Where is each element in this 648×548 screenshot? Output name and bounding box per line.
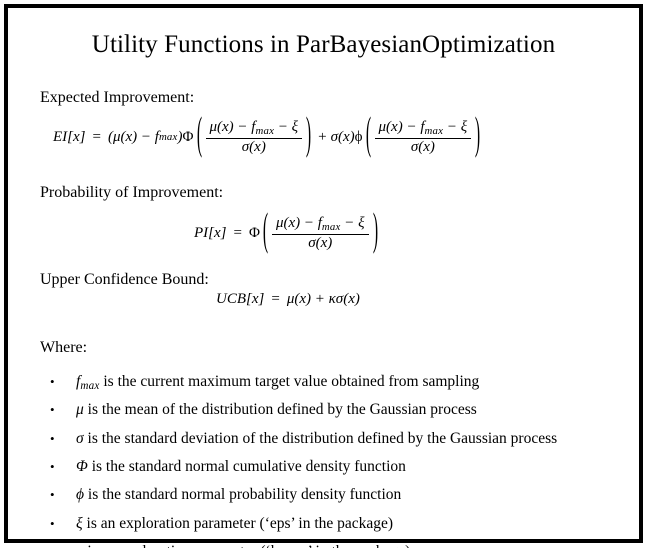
definition-text: is the standard normal probability densi…: [84, 486, 401, 503]
ei-factor-sub: max: [159, 132, 178, 143]
section-label-upper-confidence-bound: Upper Confidence Bound:: [40, 270, 209, 290]
ei-lhs: EI[x]: [53, 130, 86, 145]
section-label-expected-improvement: Expected Improvement:: [40, 88, 194, 108]
definition-text: is the standard deviation of the distrib…: [84, 430, 558, 447]
ei-sigma: σ(x): [331, 130, 355, 145]
ucb-lhs: UCB[x]: [216, 292, 264, 307]
definition-symbol: μ: [76, 401, 84, 418]
list-item: ξ is an exploration parameter (‘eps’ in …: [76, 512, 648, 540]
list-item: μ is the mean of the distribution define…: [76, 398, 648, 426]
definition-text: is the mean of the distribution defined …: [84, 401, 477, 418]
formula-expected-improvement: EI[x] = (μ(x) − fmax)Φ ( μ(x) − fmax − ξ…: [53, 120, 483, 155]
ucb-rhs: μ(x) + κσ(x): [287, 292, 360, 307]
definition-symbol: σ: [76, 430, 84, 447]
document-page: Utility Functions in ParBayesianOptimiza…: [0, 0, 648, 548]
definition-text: is the current maximum target value obta…: [100, 373, 480, 390]
ei-fraction-2-numerator: μ(x) − fmax − ξ: [375, 120, 472, 139]
ei-fraction-2-denominator: σ(x): [407, 139, 439, 155]
ei-plus: +: [318, 130, 326, 145]
document-content: Utility Functions in ParBayesianOptimiza…: [8, 8, 639, 539]
pi-equals: =: [234, 226, 242, 241]
pi-lhs: PI[x]: [194, 226, 227, 241]
ei-paren-close-1: ): [306, 115, 311, 161]
ei-pdf-symbol: ϕ: [355, 130, 363, 145]
pi-paren-open: (: [263, 211, 268, 257]
pi-fraction-numerator: μ(x) − fmax − ξ: [272, 216, 369, 235]
ei-fraction-1-denominator: σ(x): [238, 139, 270, 155]
ei-fraction-1-numerator: μ(x) − fmax − ξ: [206, 120, 303, 139]
list-item: σ is the standard deviation of the distr…: [76, 427, 648, 455]
where-definition-list: fmax is the current maximum target value…: [40, 370, 648, 548]
definition-text: is the standard normal cumulative densit…: [88, 458, 406, 475]
section-label-probability-of-improvement: Probability of Improvement:: [40, 183, 223, 203]
ei-paren-open-2: (: [365, 115, 370, 161]
ei-equals: =: [93, 130, 101, 145]
definition-symbol: ϕ: [76, 486, 84, 503]
where-label: Where:: [40, 338, 87, 358]
list-item: Φ is the standard normal cumulative dens…: [76, 455, 648, 483]
definition-symbol: Φ: [76, 458, 88, 475]
ei-fraction-1: μ(x) − fmax − ξ σ(x): [206, 120, 303, 155]
list-item: fmax is the current maximum target value…: [76, 370, 648, 398]
ei-factor: (μ(x) − f: [108, 130, 159, 145]
pi-fraction: μ(x) − fmax − ξ σ(x): [272, 216, 369, 251]
list-item: ϕ is the standard normal probability den…: [76, 483, 648, 511]
ei-paren-open-1: (: [196, 115, 201, 161]
formula-probability-of-improvement: PI[x] = Φ ( μ(x) − fmax − ξ σ(x) ): [194, 216, 381, 251]
pi-cdf-symbol: Φ: [249, 226, 260, 241]
ei-cdf-symbol: Φ: [183, 130, 194, 145]
definition-text: is an exploration parameter (‘eps’ in th…: [83, 515, 393, 532]
definition-symbol: ξ: [76, 515, 83, 532]
ucb-equals: =: [271, 292, 279, 307]
definition-symbol-subscript: max: [80, 380, 99, 392]
formula-upper-confidence-bound: UCB[x] = μ(x) + κσ(x): [216, 292, 360, 307]
pi-fraction-denominator: σ(x): [304, 235, 336, 251]
definition-text: is an exploration parameter (‘kappa’ in …: [83, 543, 410, 548]
pi-paren-close: ): [372, 211, 377, 257]
ei-paren-close-2: ): [475, 115, 480, 161]
list-item: κ is an exploration parameter (‘kappa’ i…: [76, 540, 648, 548]
ei-fraction-2: μ(x) − fmax − ξ σ(x): [375, 120, 472, 155]
page-title: Utility Functions in ParBayesianOptimiza…: [8, 30, 639, 60]
